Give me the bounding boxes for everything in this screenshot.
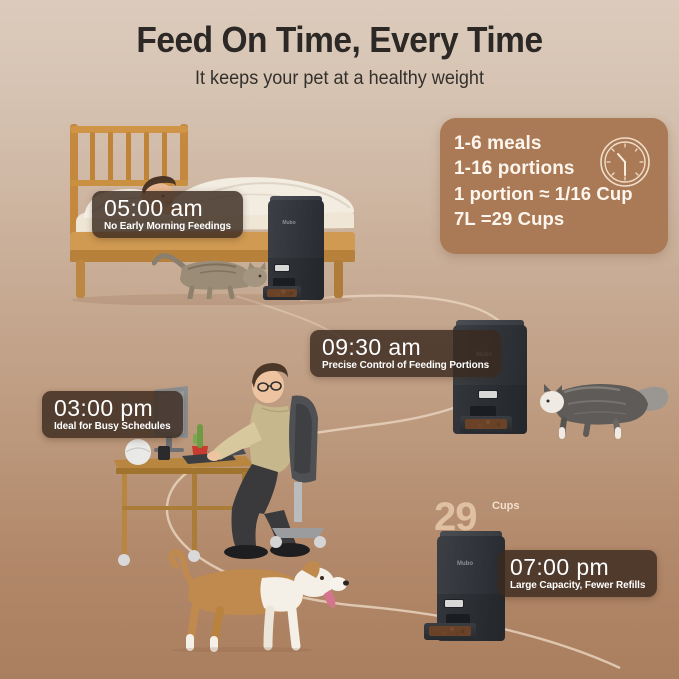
device-brand-logo: Mubo: [448, 561, 482, 567]
timeline-caption: Ideal for Busy Schedules: [54, 421, 171, 432]
timeline-time: 07:00 pm: [510, 555, 645, 579]
cat-eating-illustration: [152, 243, 272, 299]
pet-feeder-device-bedroom: Mubo: [267, 196, 325, 300]
desk-working-scene: [96, 348, 336, 578]
clock-icon: [599, 136, 651, 188]
device-brand-logo: Mubo: [273, 220, 305, 226]
timeline-time: 09:30 am: [322, 335, 489, 359]
timeline-chip-0500am: 05:00 am No Early Morning Feedings: [92, 191, 243, 238]
page-subtitle: It keeps your pet at a healthy weight: [17, 68, 662, 90]
spec-line-capacity: 7L =29 Cups: [454, 207, 654, 232]
feeding-spec-card: 1-6 meals 1-16 portions 1 portion ≈ 1/16…: [440, 118, 668, 254]
infographic-canvas: Feed On Time, Every Time It keeps your p…: [0, 0, 679, 679]
dog-illustration: [162, 548, 357, 652]
timeline-time: 03:00 pm: [54, 396, 171, 420]
page-title: Feed On Time, Every Time: [24, 19, 655, 61]
timeline-chip-0300pm: 03:00 pm Ideal for Busy Schedules: [42, 391, 183, 438]
timeline-chip-0700pm: 07:00 pm Large Capacity, Fewer Refills: [498, 550, 657, 597]
capacity-badge: 29 Cups: [434, 497, 477, 537]
timeline-caption: Precise Control of Feeding Portions: [322, 360, 489, 371]
capacity-unit: Cups: [492, 500, 520, 512]
fluffy-cat-illustration: [540, 372, 672, 440]
timeline-caption: Large Capacity, Fewer Refills: [510, 580, 645, 591]
timeline-time: 05:00 am: [104, 196, 231, 220]
pet-feeder-device-bottomright: Mubo: [436, 531, 506, 641]
timeline-caption: No Early Morning Feedings: [104, 221, 231, 232]
timeline-chip-0930am: 09:30 am Precise Control of Feeding Port…: [310, 330, 501, 377]
capacity-value: 29: [434, 495, 477, 539]
